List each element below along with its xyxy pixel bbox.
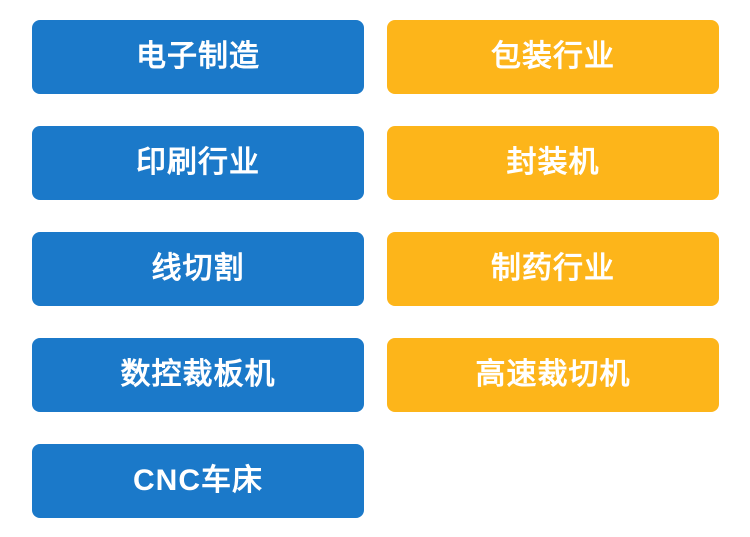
category-button-printing-industry[interactable]: 印刷行业 <box>32 126 364 200</box>
category-button-label: 封装机 <box>507 148 600 178</box>
category-button-label: 印刷行业 <box>136 148 260 178</box>
category-button-wire-cutting[interactable]: 线切割 <box>32 232 364 306</box>
category-button-high-speed-cutter[interactable]: 高速裁切机 <box>387 338 719 412</box>
category-button-cnc-panel-saw[interactable]: 数控裁板机 <box>32 338 364 412</box>
category-button-packaging-industry[interactable]: 包装行业 <box>387 20 719 94</box>
category-button-label: 包装行业 <box>491 42 615 72</box>
category-button-label: 数控裁板机 <box>121 360 276 390</box>
category-button-label: 高速裁切机 <box>476 360 631 390</box>
category-button-board: 电子制造 印刷行业 线切割 数控裁板机 CNC车床 包装行业 封装机 制药行业 … <box>0 0 750 537</box>
category-button-cnc-lathe[interactable]: CNC车床 <box>32 444 364 518</box>
category-button-label: 制药行业 <box>491 254 615 284</box>
right-column: 包装行业 封装机 制药行业 高速裁切机 <box>387 20 719 412</box>
category-button-label: CNC车床 <box>133 466 263 496</box>
left-column: 电子制造 印刷行业 线切割 数控裁板机 CNC车床 <box>32 20 364 518</box>
category-button-label: 电子制造 <box>136 42 260 72</box>
category-button-label: 线切割 <box>152 254 245 284</box>
category-button-pharmaceutical-industry[interactable]: 制药行业 <box>387 232 719 306</box>
category-button-electronics-manufacturing[interactable]: 电子制造 <box>32 20 364 94</box>
category-button-sealing-machine[interactable]: 封装机 <box>387 126 719 200</box>
